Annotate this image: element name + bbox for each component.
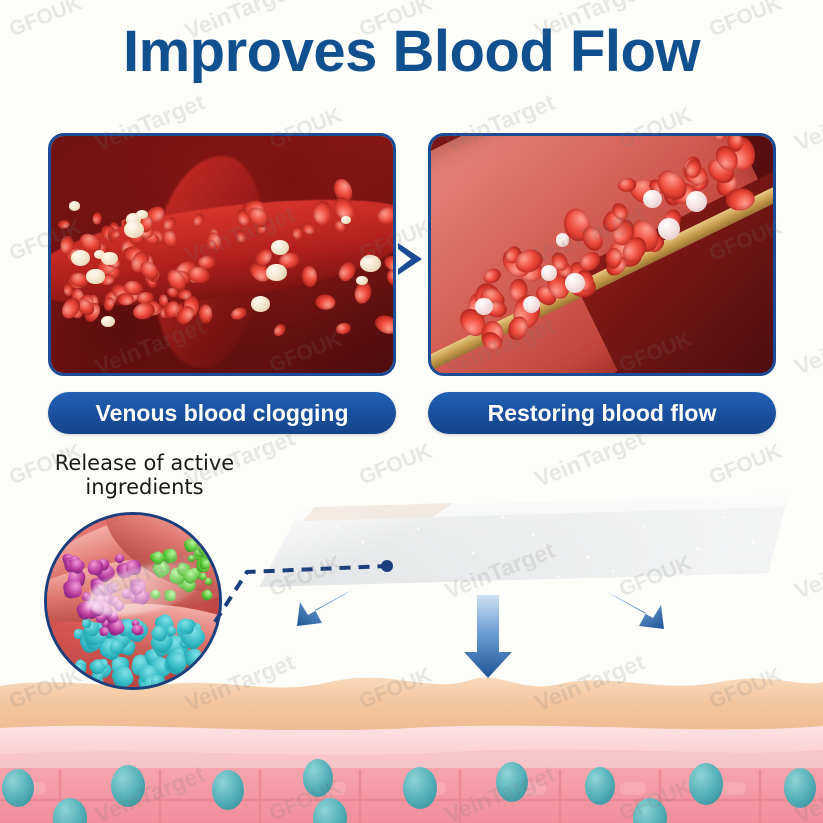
clogged-vein-panel [48,133,396,376]
restored-blood-flow-photo [431,136,773,373]
watermark-text: GFOUK [706,440,785,491]
watermark-text: VeinTarget [791,89,823,157]
watermark-text: VeinTarget [531,425,649,493]
right-arrow-icon [398,243,422,275]
absorption-arrow-left [297,589,353,626]
transdermal-patch [243,487,788,592]
absorption-arrow-right [608,592,664,629]
restored-caption-pill: Restoring blood flow [428,392,776,434]
restored-caption-label: Restoring blood flow [488,400,717,427]
watermark-text: VeinTarget [791,313,823,381]
clogged-caption-pill: Venous blood clogging [48,392,396,434]
release-caption-label: Release of active ingredients [42,452,247,500]
clogged-caption-label: Venous blood clogging [96,400,349,427]
page-title: Improves Blood Flow [0,18,823,85]
active-ingredients-magnified-circle [44,512,222,690]
clogged-vein-photo [51,136,393,373]
restored-flow-panel [428,133,776,376]
watermark-text: VeinTarget [791,537,823,605]
watermark-text: GFOUK [356,440,435,491]
improves-blood-flow-infographic: Improves Blood Flow Venous blood cloggin… [0,0,823,823]
